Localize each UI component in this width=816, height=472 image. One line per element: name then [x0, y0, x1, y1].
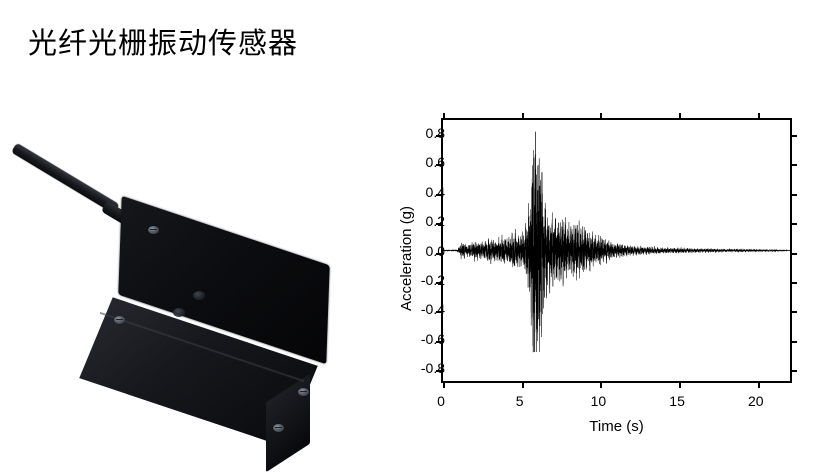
x-axis-title: Time (s)	[441, 418, 792, 435]
y-tick-mark-right	[790, 223, 797, 225]
y-tick-mark-right	[790, 164, 797, 166]
x-tick-label: 20	[748, 393, 764, 409]
x-tick-mark	[679, 381, 681, 388]
screw-icon	[114, 316, 125, 324]
y-tick-label: 0.4	[426, 184, 445, 200]
y-tick-mark-right	[790, 341, 797, 343]
y-tick-mark-right	[790, 194, 797, 196]
y-tick-mark-right	[790, 370, 797, 372]
x-tick-mark	[443, 381, 445, 388]
x-tick-mark-top	[522, 113, 524, 120]
y-tick-label: -0.6	[421, 331, 445, 347]
acceleration-time-chart: Acceleration (g) Time (s) -0.8-0.6-0.4-0…	[368, 100, 808, 440]
x-tick-label: 10	[591, 393, 607, 409]
sensor-port-icon	[173, 308, 185, 317]
x-tick-mark-top	[679, 113, 681, 120]
x-tick-mark	[522, 381, 524, 388]
y-axis-title: Acceleration (g)	[398, 206, 415, 311]
y-tick-mark-right	[790, 253, 797, 255]
sensor-photo	[8, 108, 368, 428]
screw-icon	[273, 424, 284, 432]
y-tick-label: 0.8	[426, 125, 445, 141]
x-tick-label: 0	[437, 393, 445, 409]
plot-frame	[441, 118, 792, 383]
sensor-cable	[11, 143, 120, 214]
sensor-port-icon	[193, 291, 205, 300]
x-tick-mark-top	[443, 113, 445, 120]
x-tick-label: 15	[669, 393, 685, 409]
x-tick-label: 5	[516, 393, 524, 409]
x-tick-mark	[600, 381, 602, 388]
y-tick-mark-right	[790, 282, 797, 284]
x-tick-mark	[758, 381, 760, 388]
x-tick-mark-top	[600, 113, 602, 120]
y-tick-label: 0.2	[426, 213, 445, 229]
x-tick-mark-top	[758, 113, 760, 120]
screw-icon	[148, 226, 159, 234]
y-tick-label: -0.2	[421, 272, 445, 288]
page-title: 光纤光栅振动传感器	[28, 24, 298, 64]
waveform-plot	[443, 120, 790, 381]
y-tick-label: -0.4	[421, 301, 445, 317]
screw-icon	[298, 388, 309, 396]
y-tick-mark-right	[790, 311, 797, 313]
y-tick-mark-right	[790, 135, 797, 137]
slide-canvas: 光纤光栅振动传感器 Acceleration (g) Time (s) -0.8…	[0, 0, 816, 446]
y-tick-label: 0.6	[426, 154, 445, 170]
y-tick-label: 0.0	[426, 243, 445, 259]
y-tick-label: -0.8	[421, 360, 445, 376]
